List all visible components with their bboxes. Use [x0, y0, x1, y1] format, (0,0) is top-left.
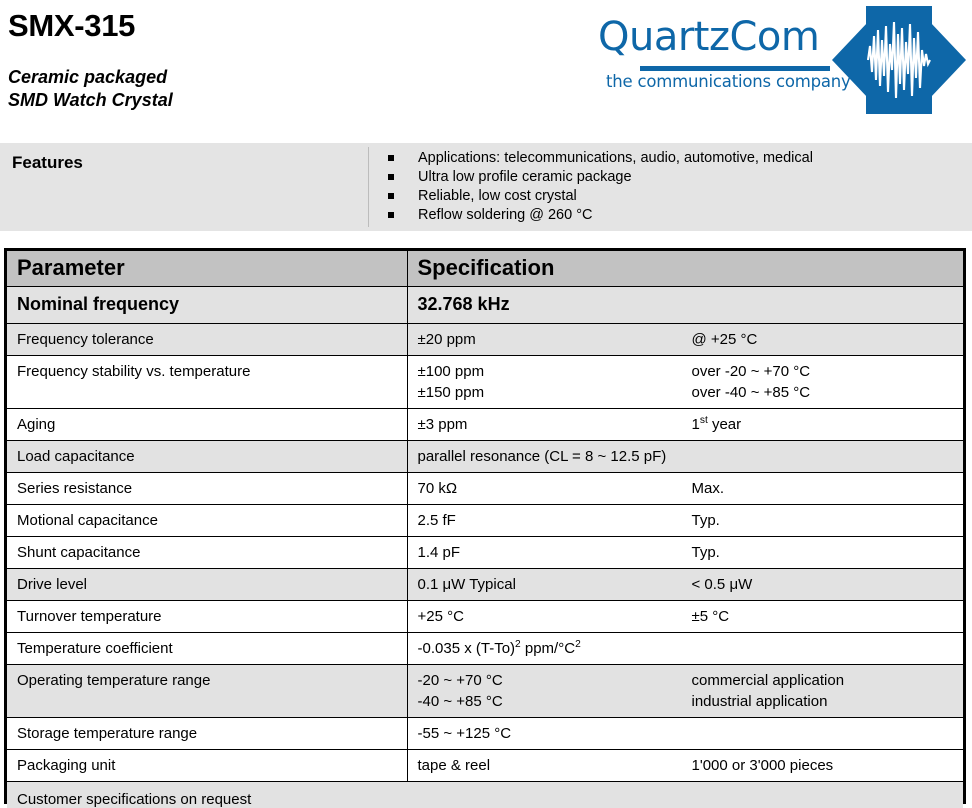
- row-spec-note: Max.: [692, 478, 964, 499]
- row-spec-cell: 1.4 pF Typ.: [407, 537, 963, 569]
- row-parameter-label: Drive level: [7, 569, 407, 600]
- row-parameter-cell: Storage temperature range: [7, 718, 407, 750]
- bullet-square-icon: [388, 193, 394, 199]
- row-parameter-label: Load capacitance: [7, 441, 407, 472]
- row-parameter-cell: Shunt capacitance: [7, 537, 407, 569]
- quartz-waveform-emblem-icon: [832, 6, 966, 114]
- page-header: SMX-315 Ceramic packaged SMD Watch Cryst…: [0, 0, 972, 143]
- row-spec-value: 2.5 fF: [418, 510, 692, 531]
- row-spec-cell: parallel resonance (CL = 8 ~ 12.5 pF): [407, 441, 963, 473]
- row-spec-cell: ±20 ppm @ +25 °C: [407, 324, 963, 356]
- bullet-square-icon: [388, 212, 394, 218]
- logo-tagline: the communications company: [606, 72, 851, 91]
- table-row: Nominal frequency 32.768 kHz: [7, 287, 963, 324]
- row-parameter-cell: Motional capacitance: [7, 505, 407, 537]
- page-subtitle: Ceramic packaged SMD Watch Crystal: [8, 66, 173, 112]
- row-spec-value: ±20 ppm: [418, 329, 692, 350]
- table-row: Frequency stability vs. temperature ±100…: [7, 356, 963, 409]
- logo-underline-bar: [640, 66, 830, 71]
- table-row: Frequency tolerance ±20 ppm @ +25 °C: [7, 324, 963, 356]
- row-spec-value: 1.4 pF: [418, 542, 692, 563]
- table-footer-row: Customer specifications on request: [7, 782, 963, 808]
- row-parameter-cell: Nominal frequency: [7, 287, 407, 324]
- row-spec-value: 32.768 kHz: [408, 287, 964, 323]
- row-parameter-label: Storage temperature range: [7, 718, 407, 749]
- feature-item: Applications: telecommunications, audio,…: [388, 149, 958, 168]
- row-spec-note: Typ.: [692, 510, 964, 531]
- subtitle-line-1: Ceramic packaged: [8, 66, 173, 89]
- feature-text: Reflow soldering @ 260 °C: [418, 207, 592, 223]
- row-parameter-label: Packaging unit: [7, 750, 407, 781]
- features-list: Applications: telecommunications, audio,…: [388, 149, 958, 225]
- row-spec-cell: +25 °C ±5 °C: [407, 601, 963, 633]
- row-parameter-label: Nominal frequency: [7, 287, 407, 323]
- feature-item: Reliable, low cost crystal: [388, 187, 958, 206]
- row-spec-note: commercial application: [692, 670, 964, 691]
- feature-item: Ultra low profile ceramic package: [388, 168, 958, 187]
- footer-note-text: Customer specifications on request: [7, 782, 963, 808]
- row-spec-cell: 2.5 fF Typ.: [407, 505, 963, 537]
- row-parameter-label: Frequency tolerance: [7, 324, 407, 355]
- table-row: Packaging unit tape & reel 1'000 or 3'00…: [7, 750, 963, 782]
- feature-text: Applications: telecommunications, audio,…: [418, 150, 813, 166]
- row-parameter-label: Shunt capacitance: [7, 537, 407, 568]
- feature-text: Reliable, low cost crystal: [418, 188, 577, 204]
- row-spec-cell: -0.035 x (T-To)2 ppm/°C2: [407, 633, 963, 665]
- feature-item: Reflow soldering @ 260 °C: [388, 206, 958, 225]
- table-row: Drive level 0.1 μW Typical < 0.5 μW: [7, 569, 963, 601]
- row-spec-cell: -20 ~ +70 °C commercial application -40 …: [407, 665, 963, 718]
- row-spec-value: tape & reel: [418, 755, 692, 776]
- row-parameter-cell: Series resistance: [7, 473, 407, 505]
- row-parameter-cell: Turnover temperature: [7, 601, 407, 633]
- header-cell-parameter: Parameter: [7, 251, 407, 287]
- feature-text: Ultra low profile ceramic package: [418, 169, 632, 185]
- table-row: Motional capacitance 2.5 fF Typ.: [7, 505, 963, 537]
- row-parameter-label: Frequency stability vs. temperature: [7, 356, 407, 387]
- row-spec-value-2: ±150 ppm: [418, 382, 692, 403]
- datasheet-page: SMX-315 Ceramic packaged SMD Watch Cryst…: [0, 0, 972, 808]
- table-header-row: Parameter Specification: [7, 251, 963, 287]
- row-spec-cell: -55 ~ +125 °C: [407, 718, 963, 750]
- row-spec-value: ±100 ppm: [418, 361, 692, 382]
- bullet-square-icon: [388, 155, 394, 161]
- row-parameter-cell: Aging: [7, 409, 407, 441]
- row-spec-note-2: industrial application: [692, 691, 964, 712]
- row-spec-cell: ±100 ppm over -20 ~ +70 °C ±150 ppm over…: [407, 356, 963, 409]
- page-title: SMX-315: [8, 8, 135, 44]
- row-spec-note: 1'000 or 3'000 pieces: [692, 755, 964, 776]
- row-spec-cell: ±3 ppm 1st year: [407, 409, 963, 441]
- row-parameter-cell: Packaging unit: [7, 750, 407, 782]
- features-divider: [368, 147, 369, 227]
- row-spec-value: +25 °C: [418, 606, 692, 627]
- row-parameter-cell: Frequency stability vs. temperature: [7, 356, 407, 409]
- row-parameter-label: Aging: [7, 409, 407, 440]
- row-parameter-cell: Load capacitance: [7, 441, 407, 473]
- header-cell-specification: Specification: [407, 251, 963, 287]
- row-parameter-cell: Frequency tolerance: [7, 324, 407, 356]
- row-parameter-label: Series resistance: [7, 473, 407, 504]
- row-spec-note: @ +25 °C: [692, 329, 964, 350]
- row-spec-value: 70 kΩ: [418, 478, 692, 499]
- row-spec-note: < 0.5 μW: [692, 574, 964, 595]
- row-spec-value: -55 ~ +125 °C: [408, 718, 964, 749]
- features-heading: Features: [12, 153, 83, 173]
- row-spec-value: 0.1 μW Typical: [418, 574, 692, 595]
- row-spec-cell: 32.768 kHz: [407, 287, 963, 324]
- table-row: Series resistance 70 kΩ Max.: [7, 473, 963, 505]
- specification-table: Parameter Specification Nominal frequenc…: [4, 248, 966, 804]
- row-spec-value: ±3 ppm: [418, 414, 692, 435]
- table-row: Aging ±3 ppm 1st year: [7, 409, 963, 441]
- row-spec-value: -0.035 x (T-To)2 ppm/°C2: [408, 633, 964, 664]
- row-spec-cell: 70 kΩ Max.: [407, 473, 963, 505]
- table-row: Temperature coefficient -0.035 x (T-To)2…: [7, 633, 963, 665]
- row-spec-value: -20 ~ +70 °C: [418, 670, 692, 691]
- header-parameter-label: Parameter: [7, 251, 407, 286]
- table-row: Operating temperature range -20 ~ +70 °C…: [7, 665, 963, 718]
- footer-note-cell: Customer specifications on request: [7, 782, 963, 808]
- row-spec-cell: tape & reel 1'000 or 3'000 pieces: [407, 750, 963, 782]
- row-parameter-label: Motional capacitance: [7, 505, 407, 536]
- row-spec-value: parallel resonance (CL = 8 ~ 12.5 pF): [408, 441, 964, 472]
- row-spec-value-2: -40 ~ +85 °C: [418, 691, 692, 712]
- company-logo: QuartzCom the communications company: [598, 14, 966, 110]
- row-parameter-cell: Operating temperature range: [7, 665, 407, 718]
- table-row: Turnover temperature +25 °C ±5 °C: [7, 601, 963, 633]
- row-spec-note-2: over -40 ~ +85 °C: [692, 382, 964, 403]
- row-parameter-label: Temperature coefficient: [7, 633, 407, 664]
- row-parameter-label: Turnover temperature: [7, 601, 407, 632]
- row-parameter-label: Operating temperature range: [7, 665, 407, 696]
- features-section: Features Applications: telecommunication…: [0, 143, 972, 231]
- table-row: Load capacitance parallel resonance (CL …: [7, 441, 963, 473]
- row-spec-note: 1st year: [692, 414, 964, 435]
- table-row: Shunt capacitance 1.4 pF Typ.: [7, 537, 963, 569]
- row-spec-note: over -20 ~ +70 °C: [692, 361, 964, 382]
- row-parameter-cell: Drive level: [7, 569, 407, 601]
- row-parameter-cell: Temperature coefficient: [7, 633, 407, 665]
- header-specification-label: Specification: [408, 251, 964, 286]
- table-row: Storage temperature range -55 ~ +125 °C: [7, 718, 963, 750]
- row-spec-cell: 0.1 μW Typical < 0.5 μW: [407, 569, 963, 601]
- row-spec-note: Typ.: [692, 542, 964, 563]
- row-spec-note: ±5 °C: [692, 606, 964, 627]
- subtitle-line-2: SMD Watch Crystal: [8, 89, 173, 112]
- logo-wordmark: QuartzCom: [598, 14, 819, 60]
- bullet-square-icon: [388, 174, 394, 180]
